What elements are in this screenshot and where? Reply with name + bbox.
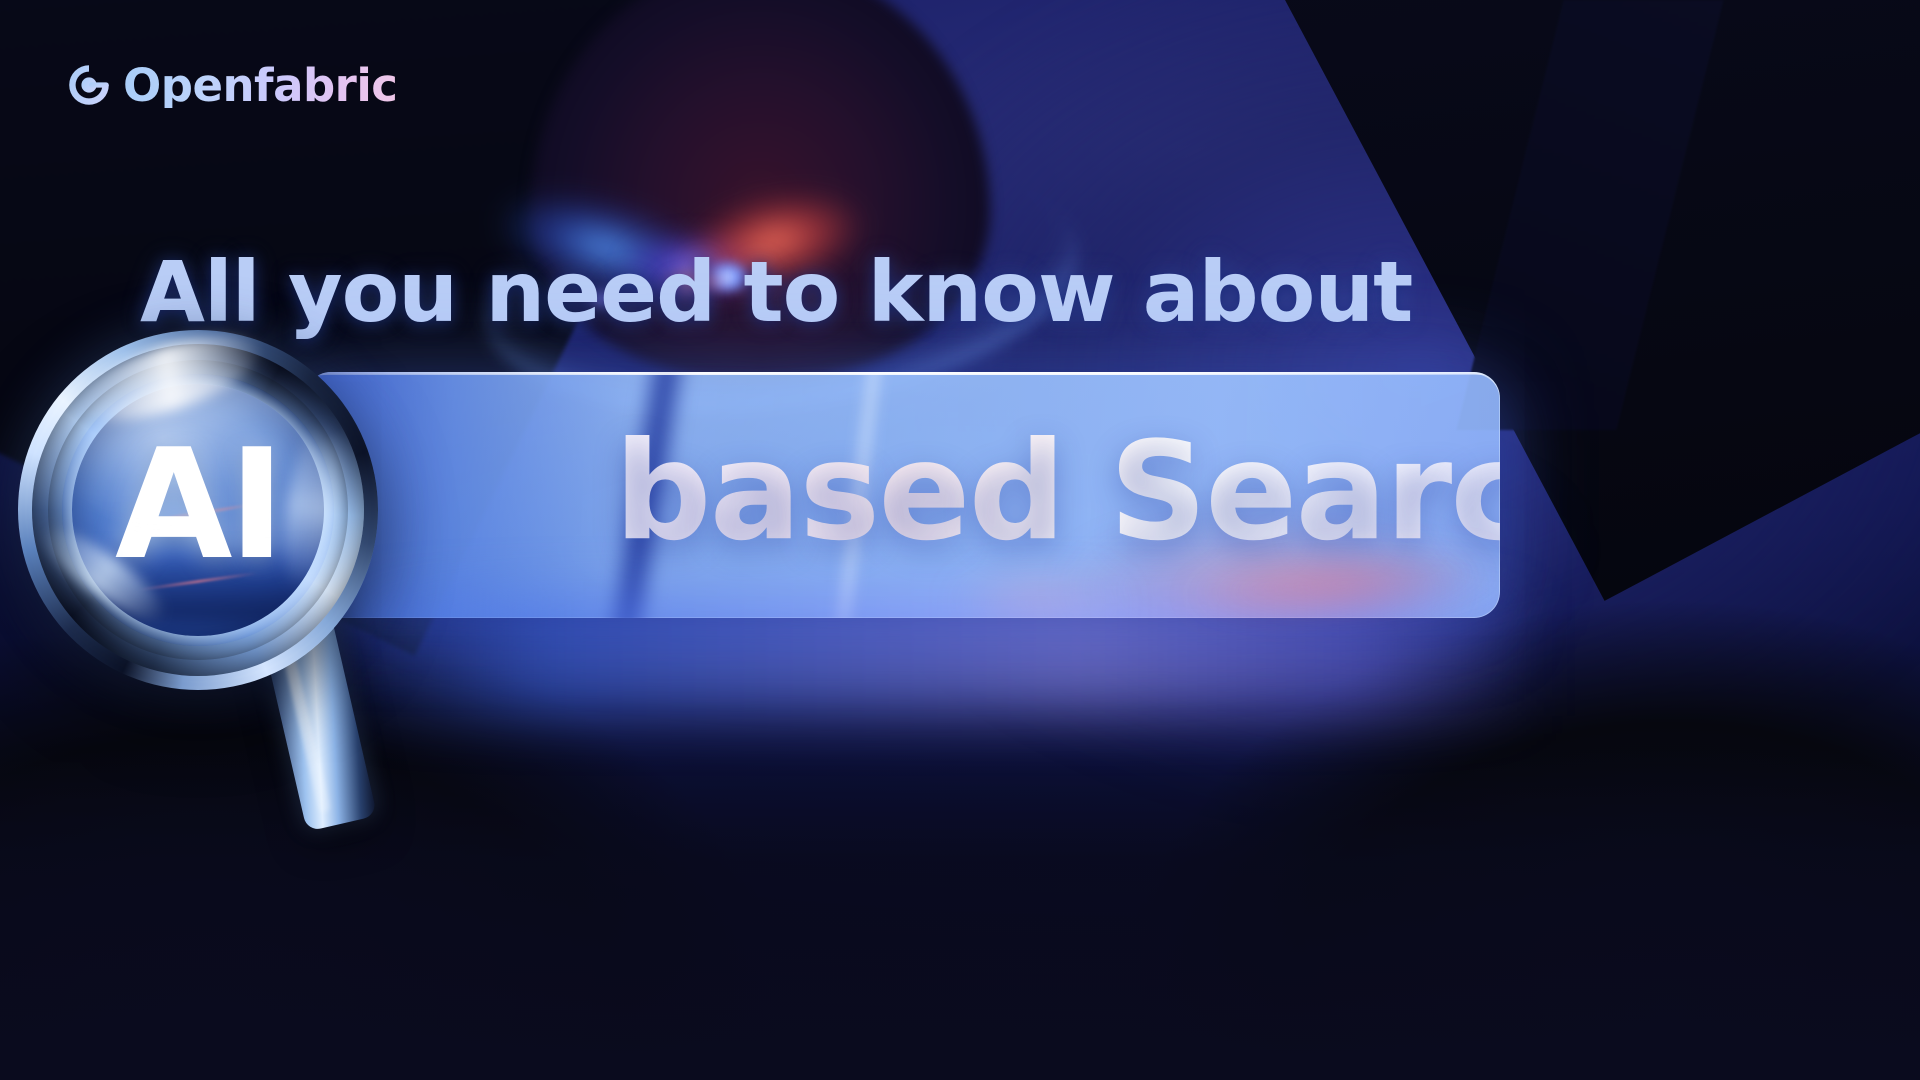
search-bar-text: AI based Search [417, 424, 1500, 560]
search-bar-top-edge [305, 372, 1500, 375]
background-bottom-band [0, 750, 1920, 1080]
page-title: All you need to know about [140, 250, 1540, 334]
openfabric-o-mark-icon [66, 62, 112, 108]
search-bar-under-glow [330, 596, 1540, 716]
openfabric-logo[interactable]: Openfabric [66, 62, 397, 108]
magnifying-glass-icon: AI [18, 330, 438, 750]
openfabric-wordmark: Openfabric [123, 63, 397, 108]
search-text-rest: based Search [569, 413, 1500, 571]
hero-banner: Openfabric All you need to know about AI… [0, 0, 1920, 1080]
search-keyword-ai: AI [417, 413, 569, 571]
